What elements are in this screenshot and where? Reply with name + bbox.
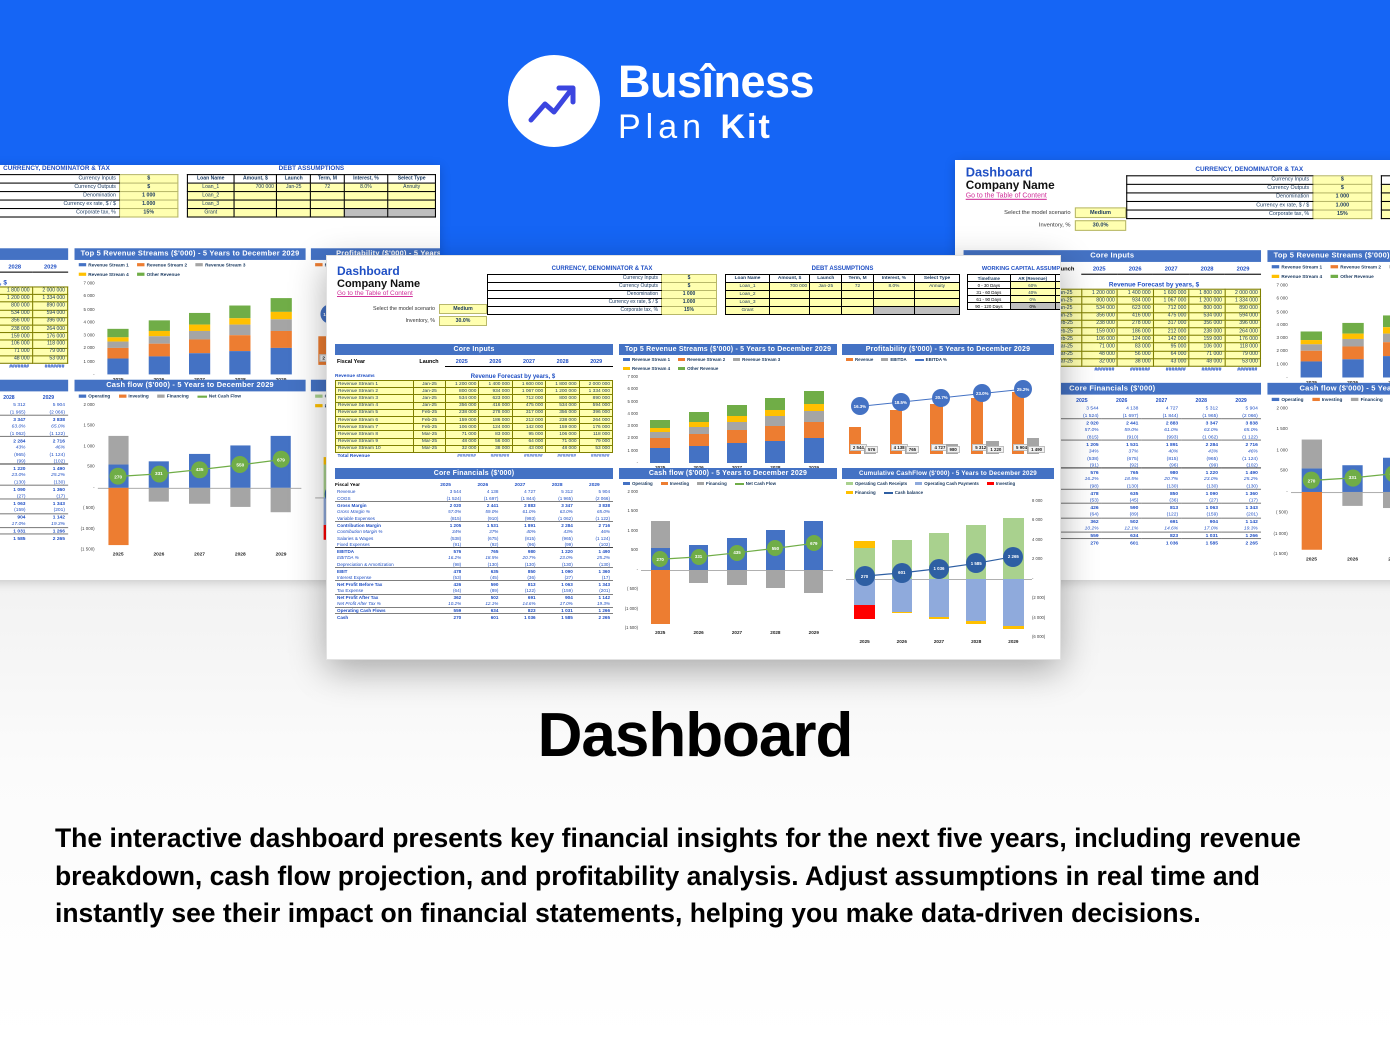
cell[interactable]: Loan_3	[1381, 201, 1390, 210]
stream-value[interactable]: 934 000	[1118, 297, 1154, 305]
stream-value[interactable]: 1 800 000	[0, 287, 32, 295]
row-label: Currency Inputs	[0, 175, 120, 183]
year-header: 2027	[501, 482, 538, 489]
stream-value[interactable]: 79 000	[579, 438, 612, 445]
row-value: (2 066)	[576, 495, 613, 502]
row-value: 59.0%	[1102, 426, 1142, 433]
row-value: (1 062)	[539, 515, 576, 522]
row-value: 1 036	[1142, 539, 1182, 546]
cell[interactable]: Jan-25	[810, 283, 842, 291]
cell[interactable]	[873, 299, 914, 307]
cell[interactable]: 72	[842, 283, 873, 291]
stream-value[interactable]: 1 800 000	[1189, 289, 1225, 297]
stream-value[interactable]: 106 000	[0, 340, 32, 348]
stream-value[interactable]: 1 334 000	[1225, 297, 1261, 305]
stream-value[interactable]: 212 000	[1153, 328, 1189, 336]
cell[interactable]	[915, 291, 960, 299]
core-financials-bar: Core Financials ($'000)	[0, 380, 68, 392]
stream-value[interactable]: 2 000 000	[579, 381, 612, 388]
cell[interactable]: 0 - 30 Days	[968, 282, 1011, 289]
row-value[interactable]: $	[662, 275, 717, 283]
stream-value[interactable]: 1 200 000	[0, 295, 32, 303]
stream-value[interactable]: 934 000	[479, 388, 512, 395]
top5-revenue-chart[interactable]: Top 5 Revenue Streams ($'000) - 5 Years …	[1267, 250, 1390, 390]
row-value: 1 142	[1221, 518, 1261, 525]
row-value[interactable]: 1.000	[662, 299, 717, 307]
legend-item: Revenue Stream 2	[137, 262, 187, 267]
stream-value[interactable]: 1 200 000	[546, 388, 579, 395]
stream-value[interactable]: 416 000	[479, 402, 512, 409]
row-value[interactable]: 15%	[120, 209, 178, 217]
row-value[interactable]: $	[1313, 176, 1372, 185]
stream-value[interactable]: 1 200 000	[446, 381, 479, 388]
stream-value[interactable]: 48 000	[546, 445, 579, 452]
cell[interactable]: 0%	[1010, 296, 1055, 303]
stream-value[interactable]: 159 000	[446, 416, 479, 423]
stream-value[interactable]: 2 000 000	[32, 287, 67, 295]
stream-value[interactable]: 32 000	[446, 445, 479, 452]
stream-launch[interactable]: Mar-25	[414, 438, 446, 445]
row-value: 1 266	[29, 527, 68, 534]
row-value: 478	[427, 568, 464, 575]
stream-value[interactable]: 32 000	[1082, 358, 1118, 366]
toc-link[interactable]: Go to the Table of Content	[966, 192, 1055, 199]
stream-value[interactable]: 176 000	[1225, 335, 1261, 343]
row-value: 765	[1102, 468, 1142, 475]
row-value[interactable]: 1.000	[120, 200, 178, 208]
legend-item: Cash balance	[884, 490, 923, 495]
cell[interactable]: 72	[311, 183, 344, 191]
stream-value[interactable]: 124 000	[1118, 335, 1154, 343]
table-row: Loan_2	[1381, 193, 1390, 202]
inventory-input[interactable]: 30.0%	[439, 316, 487, 326]
cell[interactable]: 60%	[1010, 282, 1055, 289]
cell[interactable]	[810, 307, 842, 315]
cell[interactable]	[277, 209, 311, 217]
stream-value[interactable]: 238 000	[1082, 320, 1118, 328]
cell[interactable]	[810, 299, 842, 307]
stream-value[interactable]: 534 000	[546, 402, 579, 409]
stream-value[interactable]: 800 000	[0, 302, 32, 310]
working-capital-panel: WORKING CAPITAL ASSUMPTIONSTimeframeAR (…	[967, 266, 1061, 310]
cell[interactable]: Loan_2	[187, 192, 234, 200]
stream-value[interactable]: 159 000	[0, 333, 32, 341]
stream-value[interactable]: 64 000	[1153, 351, 1189, 359]
row-value: 1 531	[1102, 440, 1142, 447]
cell[interactable]	[842, 291, 873, 299]
cell[interactable]	[810, 291, 842, 299]
top5-revenue-chart[interactable]: Top 5 Revenue Streams ($'000) - 5 Years …	[619, 344, 837, 475]
cell[interactable]	[388, 200, 436, 208]
cash-flow-chart[interactable]: Cash flow ($'000) - 5 Years to December …	[1267, 383, 1390, 567]
cell[interactable]: 40%	[1055, 303, 1061, 310]
cell[interactable]: 20%	[1055, 289, 1061, 296]
cell[interactable]: 40%	[1010, 289, 1055, 296]
cell[interactable]: Loan_3	[187, 200, 234, 208]
cell[interactable]: Loan_2	[726, 291, 770, 299]
stream-value[interactable]: 79 000	[1225, 351, 1261, 359]
stream-value[interactable]: 264 000	[32, 325, 67, 333]
stream-value[interactable]: 38 000	[479, 445, 512, 452]
stream-name[interactable]: Revenue Stream 5	[336, 409, 414, 416]
stream-name[interactable]: Revenue Stream 8	[336, 431, 414, 438]
chart-legend: Revenue Stream 1Revenue Stream 2Revenue …	[1267, 262, 1390, 281]
stream-launch[interactable]: Mar-25	[414, 431, 446, 438]
cell[interactable]: Loan_2	[1381, 193, 1390, 202]
year-header: 2028	[539, 482, 576, 489]
cell[interactable]: 61 - 90 Days	[968, 296, 1011, 303]
stream-value[interactable]: 38 000	[1118, 358, 1154, 366]
stream-value[interactable]: 106 000	[546, 431, 579, 438]
stream-launch[interactable]: Feb-25	[414, 409, 446, 416]
cell[interactable]	[388, 192, 436, 200]
stream-value[interactable]: 53 000	[32, 356, 67, 364]
stream-value[interactable]: 212 000	[512, 416, 545, 423]
row-value[interactable]: $	[120, 175, 178, 183]
chart-legend: OperatingInvestingFinancingNet Cash Flow	[619, 479, 837, 488]
stream-launch[interactable]: Jan-25	[414, 388, 446, 395]
cell[interactable]: Annuity	[388, 183, 436, 191]
row-value: (201)	[1221, 511, 1261, 518]
table-row: EBIT4786358501 0901 360	[335, 568, 613, 575]
cell[interactable]: Grant	[187, 209, 234, 217]
stream-value[interactable]: 594 000	[32, 310, 67, 318]
row-value[interactable]: 1 000	[1313, 193, 1372, 202]
stream-launch[interactable]: Mar-25	[414, 445, 446, 452]
cell[interactable]	[311, 209, 344, 217]
stream-value[interactable]: 712 000	[512, 395, 545, 402]
stream-value[interactable]: 118 000	[1225, 343, 1261, 351]
cell[interactable]	[842, 307, 873, 315]
cell[interactable]: Loan_1	[187, 183, 234, 191]
row-value: 1 063	[0, 499, 29, 506]
row-value[interactable]: 15%	[1313, 210, 1372, 219]
row-value: 1 036	[501, 614, 538, 621]
stream-name[interactable]: Revenue Stream 10	[336, 445, 414, 452]
stream-value[interactable]: 79 000	[32, 348, 67, 356]
stream-value[interactable]: 534 000	[1082, 305, 1118, 313]
cell[interactable]	[842, 299, 873, 307]
profitability-chart[interactable]: Profitability ($'000) - 5 Years to Decem…	[842, 344, 1054, 466]
cell[interactable]	[915, 299, 960, 307]
cell[interactable]: 30%	[1055, 296, 1061, 303]
stream-value[interactable]: 56 000	[1118, 351, 1154, 359]
cell[interactable]: 10%	[1055, 282, 1061, 289]
stream-value[interactable]: 356 000	[1082, 312, 1118, 320]
cell[interactable]	[311, 192, 344, 200]
row-value[interactable]: $	[120, 183, 178, 191]
stream-value[interactable]: 53 000	[579, 445, 612, 452]
stream-value[interactable]: 356 000	[1189, 320, 1225, 328]
stream-name[interactable]: Revenue Stream 9	[336, 438, 414, 445]
currency-panel: CURRENCY, DENOMINATOR & TAXCurrency Inpu…	[1126, 167, 1372, 219]
cell[interactable]	[344, 192, 388, 200]
stream-value[interactable]: 623 000	[479, 395, 512, 402]
stream-value[interactable]: 1 067 000	[1153, 297, 1189, 305]
stream-value[interactable]: 71 000	[0, 348, 32, 356]
stream-value[interactable]: 356 000	[546, 409, 579, 416]
cell[interactable]	[770, 291, 810, 299]
net-cash-bubble: 435	[191, 461, 208, 478]
row-value[interactable]: 1 000	[662, 291, 717, 299]
stream-value[interactable]: 1 600 000	[1153, 289, 1189, 297]
inventory-input[interactable]: 30.0%	[1075, 220, 1126, 231]
row-label: Salaries & Wages	[335, 535, 427, 542]
stream-value[interactable]: 64 000	[512, 438, 545, 445]
stream-name[interactable]: Revenue Stream 7	[336, 424, 414, 431]
stream-value[interactable]: 95 000	[1153, 343, 1189, 351]
cell[interactable]	[234, 192, 277, 200]
stream-value[interactable]: 264 000	[579, 416, 612, 423]
chart-legend: Operating Cash ReceiptsOperating Cash Pa…	[842, 479, 1054, 497]
stream-value[interactable]: 1 334 000	[579, 388, 612, 395]
stream-value[interactable]: 106 000	[1189, 343, 1225, 351]
stream-value[interactable]: 238 000	[1189, 328, 1225, 336]
table-row: Revenue Stream 5Feb-25238 000278 000317 …	[336, 409, 613, 416]
stream-value[interactable]: 356 000	[0, 317, 32, 325]
stream-launch[interactable]: Jan-25	[414, 381, 446, 388]
stream-value[interactable]: 890 000	[579, 395, 612, 402]
dashboard-screenshot-front[interactable]: DashboardCompany NameGo to the Table of …	[326, 255, 1061, 660]
stream-value[interactable]: 594 000	[579, 402, 612, 409]
stream-value[interactable]: 1 400 000	[1118, 289, 1154, 297]
row-value[interactable]: 1 000	[120, 192, 178, 200]
stream-value[interactable]: 159 000	[1082, 328, 1118, 336]
stream-value[interactable]: 48 000	[1082, 351, 1118, 359]
stream-value[interactable]: 159 000	[1189, 335, 1225, 343]
row-label: Net Profit Before Tax	[335, 581, 427, 588]
stream-launch[interactable]: Jan-25	[414, 395, 446, 402]
stream-value[interactable]: 48 000	[1189, 358, 1225, 366]
cash-flow-chart[interactable]: Cash flow ($'000) - 5 Years to December …	[75, 380, 306, 562]
stream-value[interactable]: 142 000	[512, 424, 545, 431]
y-tick: -	[619, 460, 638, 465]
stream-value[interactable]: 83 000	[479, 431, 512, 438]
y-tick: 5 000	[619, 399, 638, 404]
stream-value[interactable]: 142 000	[1153, 335, 1189, 343]
stream-value[interactable]: 43 000	[512, 445, 545, 452]
cell[interactable]	[344, 200, 388, 208]
row-value: (36)	[1142, 497, 1182, 504]
row-value: 5 312	[1181, 405, 1221, 412]
debt-caption: DEBT ASSUMPTIONS	[725, 266, 960, 272]
row-value: (965)	[539, 535, 576, 542]
legend-item: Investing	[119, 394, 149, 399]
cell[interactable]	[344, 209, 388, 217]
cell[interactable]	[388, 209, 436, 217]
stream-value[interactable]: 475 000	[1153, 312, 1189, 320]
stream-value[interactable]: 475 000	[512, 402, 545, 409]
stream-value[interactable]: 534 000	[1189, 312, 1225, 320]
cell[interactable]: 8.0%	[873, 283, 914, 291]
bar-segment	[765, 426, 785, 441]
stream-value[interactable]: 124 000	[479, 424, 512, 431]
stream-value[interactable]: 1 600 000	[512, 381, 545, 388]
stream-value[interactable]: 594 000	[1225, 312, 1261, 320]
cell[interactable]: Grant	[1381, 210, 1390, 219]
stream-value[interactable]: 186 000	[1118, 328, 1154, 336]
table-row: Revenue Stream 9Mar-2548 00056 00064 000…	[0, 348, 68, 356]
stream-value[interactable]: 800 000	[1189, 305, 1225, 313]
stream-value[interactable]: 890 000	[32, 302, 67, 310]
stream-value[interactable]: 48 000	[446, 438, 479, 445]
cell[interactable]	[311, 200, 344, 208]
stream-value[interactable]: 416 000	[1118, 312, 1154, 320]
cell[interactable]: 31 - 60 Days	[968, 289, 1011, 296]
row-value[interactable]: $	[1313, 184, 1372, 193]
stream-value[interactable]: 53 000	[1225, 358, 1261, 366]
row-value: 17.0%	[539, 601, 576, 608]
cell[interactable]: 700 000	[234, 183, 277, 191]
stream-value[interactable]: 623 000	[1118, 305, 1154, 313]
toc-link[interactable]: Go to the Table of Content	[337, 290, 420, 297]
stream-value[interactable]: 534 000	[446, 395, 479, 402]
stream-value[interactable]: 1 200 000	[1189, 297, 1225, 305]
bar-segment	[148, 336, 169, 344]
stream-value[interactable]: 2 000 000	[1225, 289, 1261, 297]
cell[interactable]	[277, 200, 311, 208]
table-row: Net Profit Before Tax4265908131 0631 343	[0, 499, 68, 506]
stream-value[interactable]: 800 000	[1082, 297, 1118, 305]
stream-value[interactable]: 71 000	[1082, 343, 1118, 351]
stream-value[interactable]: 159 000	[546, 424, 579, 431]
stream-name[interactable]: Revenue Stream 4	[336, 402, 414, 409]
stream-value[interactable]: 176 000	[32, 333, 67, 341]
cell[interactable]: Loan_1	[726, 283, 770, 291]
stream-value[interactable]: 890 000	[1225, 305, 1261, 313]
cell[interactable]	[234, 209, 277, 217]
stream-value[interactable]: 95 000	[512, 431, 545, 438]
stream-value[interactable]: 176 000	[579, 424, 612, 431]
stream-value[interactable]: 317 000	[1153, 320, 1189, 328]
stream-launch[interactable]: Jan-25	[414, 402, 446, 409]
row-value: 19.3%	[29, 520, 68, 527]
bar-segment	[189, 340, 210, 354]
stream-launch[interactable]: Feb-25	[414, 424, 446, 431]
row-value: 270	[427, 614, 464, 621]
row-value[interactable]: 1.000	[1313, 201, 1372, 210]
stream-value[interactable]: 1 067 000	[512, 388, 545, 395]
table-row: Revenue Stream 5Feb-25238 000278 000317 …	[0, 317, 68, 325]
stream-value[interactable]: 71 000	[1189, 351, 1225, 359]
stream-value[interactable]: 1 334 000	[32, 295, 67, 303]
stream-value[interactable]: 534 000	[0, 310, 32, 318]
stream-value[interactable]: 1 400 000	[479, 381, 512, 388]
stream-value[interactable]: 396 000	[1225, 320, 1261, 328]
cell[interactable]: Grant	[726, 307, 770, 315]
stream-value[interactable]: 712 000	[1153, 305, 1189, 313]
row-value: 634	[1102, 532, 1142, 539]
stream-value[interactable]: 71 000	[446, 431, 479, 438]
bar-segment	[108, 348, 129, 358]
cell[interactable]: 90 - 120 Days	[968, 303, 1011, 310]
cell[interactable]	[915, 307, 960, 315]
cell[interactable]: Loan_1	[1381, 184, 1390, 193]
cell[interactable]	[234, 200, 277, 208]
stream-value[interactable]: 118 000	[32, 340, 67, 348]
stream-name[interactable]: Revenue Stream 1	[336, 381, 414, 388]
stream-value[interactable]: 1 200 000	[1082, 289, 1118, 297]
cell[interactable]	[873, 307, 914, 315]
cell[interactable]	[277, 192, 311, 200]
row-value: (130)	[29, 478, 68, 485]
stream-value[interactable]: 800 000	[446, 388, 479, 395]
stream-value[interactable]: 1 800 000	[546, 381, 579, 388]
row-label: EBITDA	[335, 548, 427, 555]
y-tick: 1 000	[1267, 361, 1287, 366]
row-value: (130)	[1181, 482, 1221, 489]
cumulative-cashflow-chart[interactable]: Cumulative CashFlow ($'000) - 5 Years to…	[842, 468, 1054, 649]
stream-value[interactable]: 106 000	[1082, 335, 1118, 343]
stream-value[interactable]: 238 000	[446, 409, 479, 416]
cell[interactable]: 0%	[1010, 303, 1055, 310]
stream-value[interactable]: 106 000	[446, 424, 479, 431]
stream-value[interactable]: 317 000	[512, 409, 545, 416]
cell[interactable]: Loan_3	[726, 299, 770, 307]
cell[interactable]	[770, 299, 810, 307]
stream-value[interactable]: 396 000	[579, 409, 612, 416]
cell[interactable]	[873, 291, 914, 299]
cell[interactable]: Annuity	[915, 283, 960, 291]
stream-value[interactable]: 56 000	[479, 438, 512, 445]
table-row: Loan_1700 000Jan-25728.0%Annuity	[1381, 184, 1390, 193]
table-row: 90 - 120 Days0%40%	[968, 303, 1062, 310]
stream-value[interactable]: 118 000	[579, 431, 612, 438]
net-cash-bubble: 331	[1344, 469, 1361, 486]
table-row: Corporate tax, %15%	[488, 307, 717, 315]
row-value[interactable]: $	[662, 283, 717, 291]
row-value[interactable]: 15%	[662, 307, 717, 315]
stream-value[interactable]: 356 000	[446, 402, 479, 409]
stream-value[interactable]: 238 000	[546, 416, 579, 423]
stream-value[interactable]: 800 000	[546, 395, 579, 402]
row-value: 2 284	[1181, 440, 1221, 447]
stream-value[interactable]: 396 000	[32, 317, 67, 325]
stream-value[interactable]: 83 000	[1118, 343, 1154, 351]
legend-item: Investing	[661, 481, 689, 486]
scenario-select[interactable]: Medium	[1075, 207, 1126, 218]
scenario-select[interactable]: Medium	[439, 304, 487, 314]
bar-segment	[1342, 323, 1363, 333]
stream-value[interactable]: 48 000	[0, 356, 32, 364]
stream-value[interactable]: 43 000	[1153, 358, 1189, 366]
cell[interactable]: Jan-25	[277, 183, 311, 191]
bar-segment	[1301, 331, 1322, 340]
stream-name[interactable]: Revenue Stream 6	[336, 416, 414, 423]
stream-value[interactable]: 278 000	[479, 409, 512, 416]
legend-item: Revenue Stream 3	[196, 262, 246, 267]
stream-name[interactable]: Revenue Stream 2	[336, 388, 414, 395]
row-value: (993)	[1142, 433, 1182, 440]
column-header: Term, M	[311, 175, 344, 183]
stream-value[interactable]: 264 000	[1225, 328, 1261, 336]
cell[interactable]	[770, 307, 810, 315]
cash-flow-chart[interactable]: Cash flow ($'000) - 5 Years to December …	[619, 468, 837, 640]
row-label: EBITDA %	[335, 555, 427, 562]
cell[interactable]: 8.0%	[344, 183, 388, 191]
table-row: COGS(1 524)(1 697)(1 844)(1 965)(2 066)	[0, 409, 68, 416]
cell[interactable]: 700 000	[770, 283, 810, 291]
top5-revenue-chart[interactable]: Top 5 Revenue Streams ($'000) - 5 Years …	[75, 248, 306, 387]
stream-launch[interactable]: Feb-25	[414, 416, 446, 423]
stream-value[interactable]: 238 000	[0, 325, 32, 333]
stream-value[interactable]: 186 000	[479, 416, 512, 423]
stream-name[interactable]: Revenue Stream 3	[336, 395, 414, 402]
row-value: 2 716	[29, 436, 68, 443]
y-tick: 6 000	[75, 293, 95, 298]
stream-value[interactable]: 71 000	[546, 438, 579, 445]
stream-value[interactable]: 278 000	[1118, 320, 1154, 328]
